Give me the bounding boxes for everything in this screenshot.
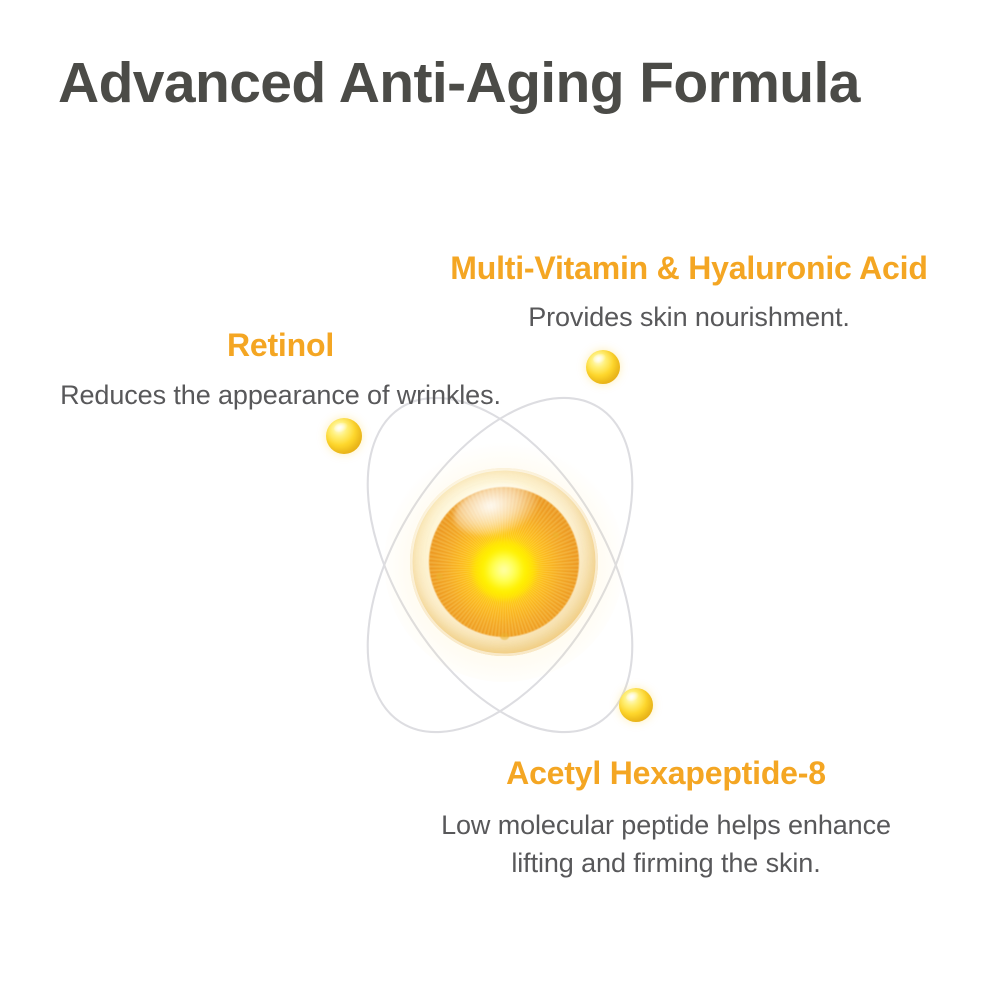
nucleus-rim	[410, 468, 598, 656]
electron-bottom-right	[619, 688, 653, 722]
page-title: Advanced Anti-Aging Formula	[58, 52, 860, 116]
callout-retinol-description: Reduces the appearance of wrinkles.	[28, 376, 533, 414]
callout-acetyl-description: Low molecular peptide helps enhance lift…	[392, 806, 940, 883]
callout-acetyl-line-1: Low molecular peptide helps enhance	[392, 806, 940, 844]
callout-multivitamin-line-1: Provides skin nourishment.	[400, 298, 978, 336]
callout-acetyl-line-2: lifting and firming the skin.	[392, 844, 940, 882]
callout-multivitamin: Multi-Vitamin & Hyaluronic Acid Provides…	[400, 250, 978, 336]
callout-multivitamin-title: Multi-Vitamin & Hyaluronic Acid	[400, 250, 978, 287]
electron-top-right	[586, 350, 620, 384]
electron-left	[326, 418, 362, 454]
callout-acetyl: Acetyl Hexapeptide-8 Low molecular pepti…	[392, 755, 940, 882]
callout-retinol: Retinol Reduces the appearance of wrinkl…	[28, 327, 533, 414]
callout-retinol-line-1: Reduces the appearance of wrinkles.	[28, 376, 533, 414]
infographic-page: Advanced Anti-Aging Formula Retin	[0, 0, 1000, 1000]
nucleus-sphere	[410, 468, 598, 656]
nucleus-speck	[553, 532, 559, 538]
callout-multivitamin-description: Provides skin nourishment.	[400, 298, 978, 336]
callout-acetyl-title: Acetyl Hexapeptide-8	[392, 755, 940, 792]
